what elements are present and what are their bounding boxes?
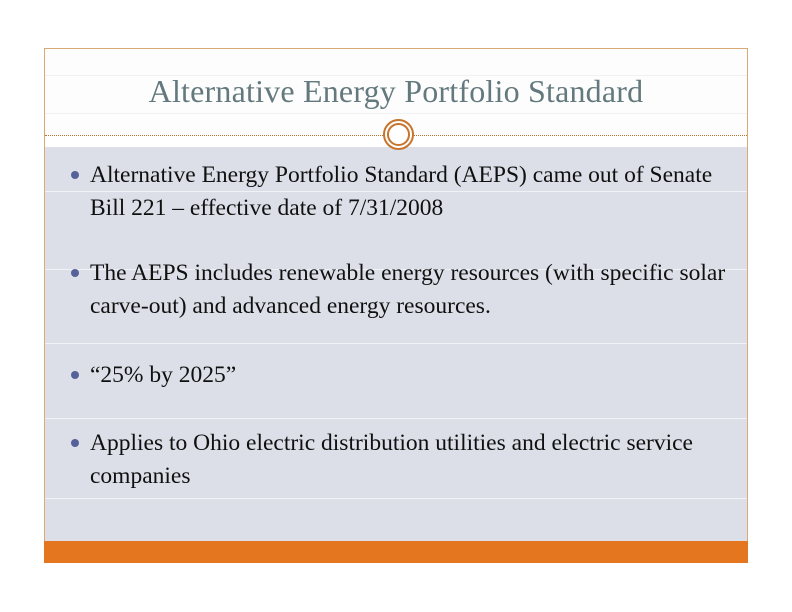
slide-content-area: Alternative Energy Portfolio Standard (A… <box>45 147 747 541</box>
title-ruled-line <box>45 113 747 114</box>
list-item-text: “25% by 2025” <box>90 359 733 392</box>
bullet-dot-icon <box>71 269 79 277</box>
bullet-dot-icon <box>71 171 79 179</box>
page-title: Alternative Energy Portfolio Standard <box>45 69 747 113</box>
list-item-text: Alternative Energy Portfolio Standard (A… <box>90 159 733 225</box>
circle-ornament-icon <box>383 119 414 150</box>
ruled-line <box>45 343 747 344</box>
slide-footer-bar <box>44 541 748 563</box>
bullet-dot-icon <box>71 439 79 447</box>
list-item: Applies to Ohio electric distribution ut… <box>71 427 733 493</box>
list-item: The AEPS includes renewable energy resou… <box>71 257 733 323</box>
list-item: “25% by 2025” <box>71 359 733 392</box>
list-item: Alternative Energy Portfolio Standard (A… <box>71 159 733 225</box>
slide-frame: Alternative Energy Portfolio Standard Al… <box>44 48 748 563</box>
ruled-line <box>45 418 747 419</box>
list-item-text: Applies to Ohio electric distribution ut… <box>90 427 733 493</box>
list-item-text: The AEPS includes renewable energy resou… <box>90 257 733 323</box>
bullet-dot-icon <box>71 371 79 379</box>
ruled-line <box>45 498 747 499</box>
circle-ornament-inner-ring-icon <box>387 123 410 146</box>
